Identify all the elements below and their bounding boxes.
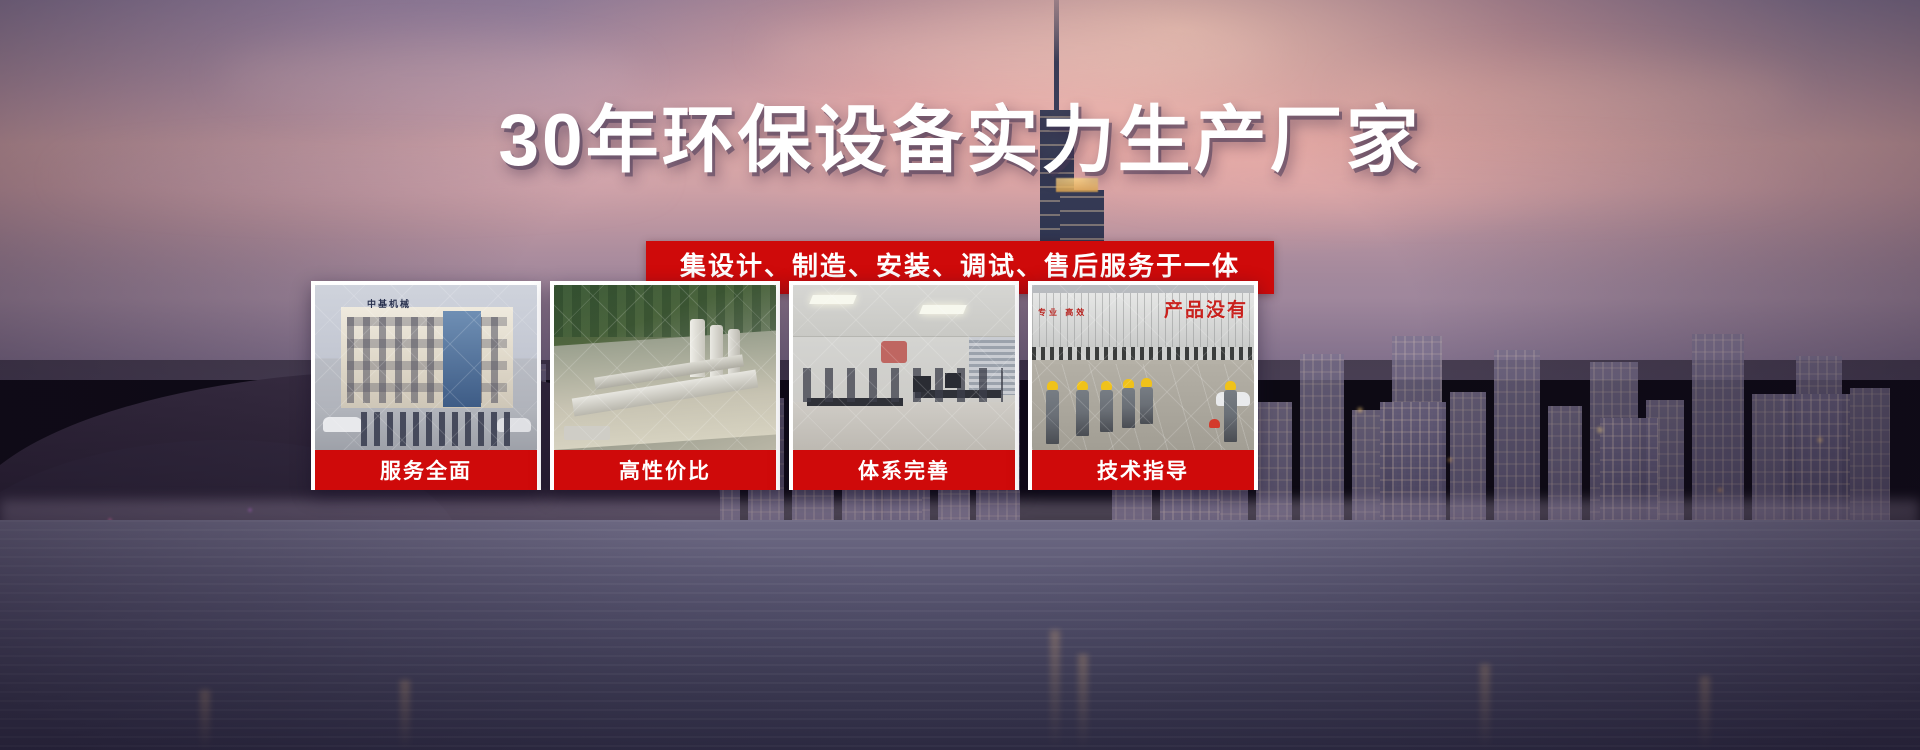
card-caption: 服务全面 [315,450,537,490]
building-sign-text: 中基机械 [367,297,411,310]
page-title: 30年环保设备实力生产厂家 [0,100,1920,182]
feature-card-value[interactable]: 高性价比 [550,281,780,490]
feature-card-system[interactable]: 体系完善 [789,281,1019,490]
card-photo-factory-workers: 专业 高效 产品没有 [1032,285,1254,450]
card-caption: 体系完善 [793,450,1015,490]
factory-slogan-small: 专业 高效 [1038,307,1087,318]
card-photo-office-building: 中基机械 [315,285,537,450]
factory-slogan-large: 产品没有 [1164,295,1248,322]
feature-card-guidance[interactable]: 专业 高效 产品没有 技术指导 [1028,281,1258,490]
card-caption: 技术指导 [1032,450,1254,490]
feature-card-service[interactable]: 中基机械 服务全面 [311,281,541,490]
card-photo-office-interior [793,285,1015,450]
hero-banner: 30年环保设备实力生产厂家 集设计、制造、安装、调试、售后服务于一体 中基机械 [0,0,1920,750]
subtitle-text: 集设计、制造、安装、调试、售后服务于一体 [680,252,1240,281]
feature-card-list: 中基机械 服务全面 [311,281,1258,490]
card-photo-production-plant [554,285,776,450]
card-caption: 高性价比 [554,450,776,490]
